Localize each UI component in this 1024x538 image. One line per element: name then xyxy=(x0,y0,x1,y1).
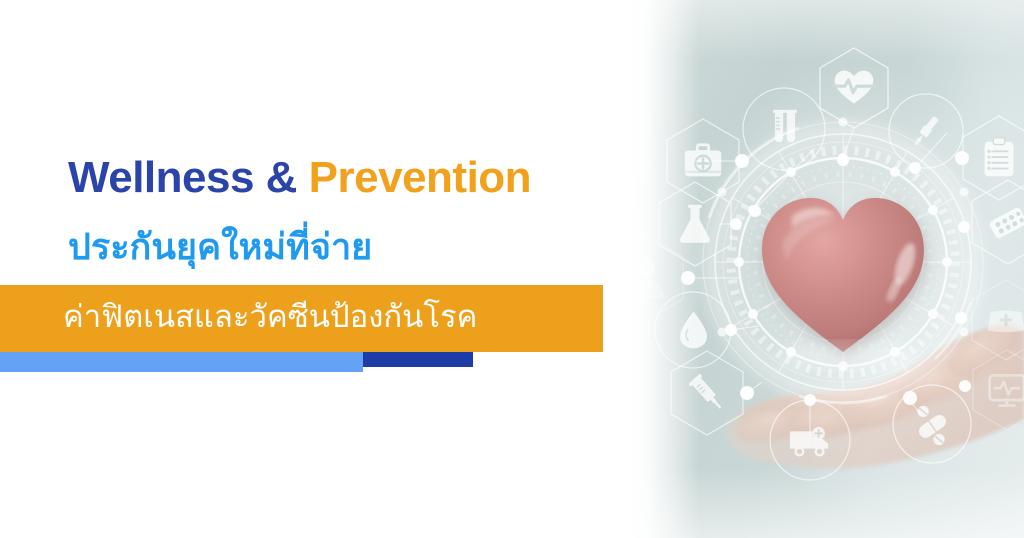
hero-left-fade xyxy=(622,0,700,538)
highlight-band-text: ค่าฟิตเนสและวัคซีนป้องกันโรค xyxy=(63,297,603,337)
promo-banner: Wellness & Prevention ประกันยุคใหม่ที่จ่… xyxy=(0,0,1024,538)
page-title: Wellness & Prevention xyxy=(68,155,628,201)
subheadline: ประกันยุคใหม่ที่จ่าย xyxy=(68,224,628,269)
accent-bar-dark xyxy=(363,352,473,367)
hero-image xyxy=(622,0,1024,538)
headline-primary: Wellness & xyxy=(68,153,309,202)
headline-accent: Prevention xyxy=(309,153,531,202)
accent-bar-light xyxy=(0,352,363,372)
